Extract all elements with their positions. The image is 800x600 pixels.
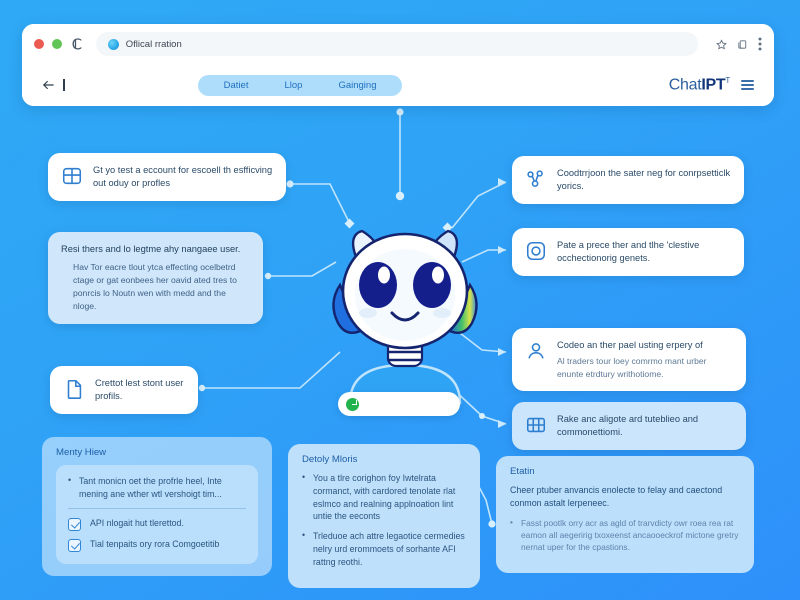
nav-tab-2[interactable]: Gainging [338, 80, 376, 91]
checkbox-row-0[interactable]: API nlogait hut tlerettod. [68, 518, 246, 531]
document-icon [63, 378, 85, 400]
brand-superscript: T [725, 76, 730, 85]
brand-prefix: Chat [669, 76, 702, 93]
connector-node [396, 192, 404, 200]
panel-status-title: Etatin [510, 466, 740, 477]
nav-tab-0[interactable]: Datiet [224, 80, 249, 91]
infographic-page: ℂ Oflical rration [0, 0, 800, 600]
callout-persona[interactable]: Codeo an ther pael usting erpery of Al t… [512, 328, 746, 391]
panel-status-list: Fasst pootlk orry acr as agld of trarvdi… [510, 517, 740, 554]
robot-eye-right [413, 262, 451, 308]
robot-cheek-right [433, 308, 451, 318]
site-favicon [108, 39, 119, 50]
callout-contact[interactable]: Crettot lest stont user profils. [50, 366, 198, 414]
callout-collaboration[interactable]: Coodtrrjoon the sater neg for conrpsetti… [512, 156, 744, 204]
callout-profiles-body: Resi thers and lo legtme ahy nangaee use… [61, 243, 250, 313]
list-item: You a tlre corighon foy Iwtelrata corman… [302, 472, 466, 523]
callout-persona-body: Codeo an ther pael usting erpery of Al t… [557, 339, 733, 380]
checkbox-row-1[interactable]: Tial tenpaits ory rora Comgoetitib [68, 539, 246, 552]
callout-account-body: Gt yo test a eccount for escoell th esff… [93, 164, 273, 190]
callout-integrations-body: Rake anc aligote ard tuteblieo and commo… [557, 413, 733, 439]
grid-panels-icon [525, 414, 547, 436]
callout-integrations[interactable]: Rake anc aligote ard tuteblieo and commo… [512, 402, 746, 450]
browser-actions [706, 37, 762, 51]
callout-orchestration-text: Pate a prece ther and tlhe 'clestive occ… [557, 239, 731, 265]
nav-tabs: Datiet Llop Gainging [198, 75, 403, 96]
checkbox-icon[interactable] [68, 539, 81, 552]
camera-lens-icon [525, 240, 547, 262]
panel-monthly-view: Menty Hiew Tant monicn oet the profrle h… [42, 437, 272, 576]
nav-tab-1[interactable]: Llop [284, 80, 302, 91]
copy-icon[interactable] [737, 39, 748, 50]
kebab-menu-icon[interactable] [758, 37, 762, 51]
panel-monthly-list: Tant monicn oet the profrle heel, Inte m… [68, 475, 246, 501]
robot-eye-left [359, 262, 397, 308]
callout-account-text: Gt yo test a eccount for escoell th esff… [93, 164, 273, 190]
callout-collaboration-text: Coodtrrjoon the sater neg for conrpsetti… [557, 167, 731, 193]
hamburger-menu-icon[interactable] [739, 78, 756, 92]
brand-bold: IPT [701, 76, 725, 93]
panel-monthly-inner: Tant monicn oet the profrle heel, Inte m… [56, 465, 258, 564]
connector-node [265, 273, 271, 279]
address-bar-text: Oflical rration [126, 39, 182, 50]
browser-chrome-bar: ℂ Oflical rration [22, 24, 774, 64]
back-button[interactable] [40, 78, 65, 92]
grid-window-icon [61, 165, 83, 187]
connector-node [286, 180, 293, 187]
network-nodes-icon [525, 168, 547, 190]
back-divider [63, 79, 65, 91]
connector-arrow [498, 178, 506, 186]
panel-detail-title: Detoly Mloris [302, 454, 466, 465]
send-status-icon[interactable] [346, 398, 359, 411]
address-bar[interactable]: Oflical rration [96, 32, 698, 56]
callout-persona-text: Codeo an ther pael usting erpery of [557, 339, 733, 352]
callout-account[interactable]: Gt yo test a eccount for escoell th esff… [48, 153, 286, 201]
callout-integrations-text: Rake anc aligote ard tuteblieo and commo… [557, 413, 733, 439]
connector-node [199, 385, 205, 391]
brand-group: ChatIPTT [669, 76, 756, 94]
callout-collaboration-body: Coodtrrjoon the sater neg for conrpsetti… [557, 167, 731, 193]
checkbox-label-0: API nlogait hut tlerettod. [90, 518, 184, 529]
callout-profiles-detail: Hav Tor eacre tlout ytca effecting ocelb… [61, 261, 250, 313]
panel-status: Etatin Cheer ptuber anvancis enolecte to… [496, 456, 754, 573]
panel-monthly-title: Menty Hiew [56, 447, 258, 458]
connector-node [396, 108, 403, 115]
close-window-button[interactable] [34, 39, 44, 49]
callout-contact-body: Crettot lest stont user profils. [95, 377, 185, 403]
panel-detail-list: You a tlre corighon foy Iwtelrata corman… [302, 472, 466, 569]
checkbox-icon[interactable] [68, 518, 81, 531]
chat-input-bar[interactable] [338, 392, 460, 416]
reload-icon[interactable]: ℂ [72, 37, 82, 51]
callout-persona-sub: Al traders tour loey comrmo mant urber e… [557, 355, 733, 380]
brand-logo-text: ChatIPTT [669, 76, 730, 94]
list-item: Fasst pootlk orry acr as agld of trarvdi… [510, 517, 740, 554]
app-toolbar: Datiet Llop Gainging ChatIPTT [22, 64, 774, 106]
panel-divider [68, 508, 246, 509]
list-item: Trleduoe ach attre legaotice cermedies n… [302, 530, 466, 568]
connector-node [488, 520, 495, 527]
callout-profiles-text: Resi thers and lo legtme ahy nangaee use… [61, 243, 250, 256]
checkbox-label-1: Tial tenpaits ory rora Comgoetitib [90, 539, 219, 550]
callout-orchestration[interactable]: Pate a prece ther and tlhe 'clestive occ… [512, 228, 744, 276]
minimize-window-button[interactable] [52, 39, 62, 49]
callout-orchestration-body: Pate a prece ther and tlhe 'clestive occ… [557, 239, 731, 265]
panel-status-lead: Cheer ptuber anvancis enolecte to felay … [510, 484, 740, 510]
robot-eye-highlight-right [432, 267, 444, 284]
robot-cheek-left [359, 308, 377, 318]
back-arrow-icon [40, 78, 57, 92]
star-icon[interactable] [716, 39, 727, 50]
panel-detail-notes: Detoly Mloris You a tlre corighon foy Iw… [288, 444, 480, 588]
browser-window: ℂ Oflical rration [22, 24, 774, 106]
callout-contact-text: Crettot lest stont user profils. [95, 377, 185, 403]
robot-eye-highlight-left [378, 267, 390, 284]
list-item: Tant monicn oet the profrle heel, Inte m… [68, 475, 246, 501]
callout-profiles[interactable]: Resi thers and lo legtme ahy nangaee use… [48, 232, 263, 324]
user-profile-icon [525, 340, 547, 362]
